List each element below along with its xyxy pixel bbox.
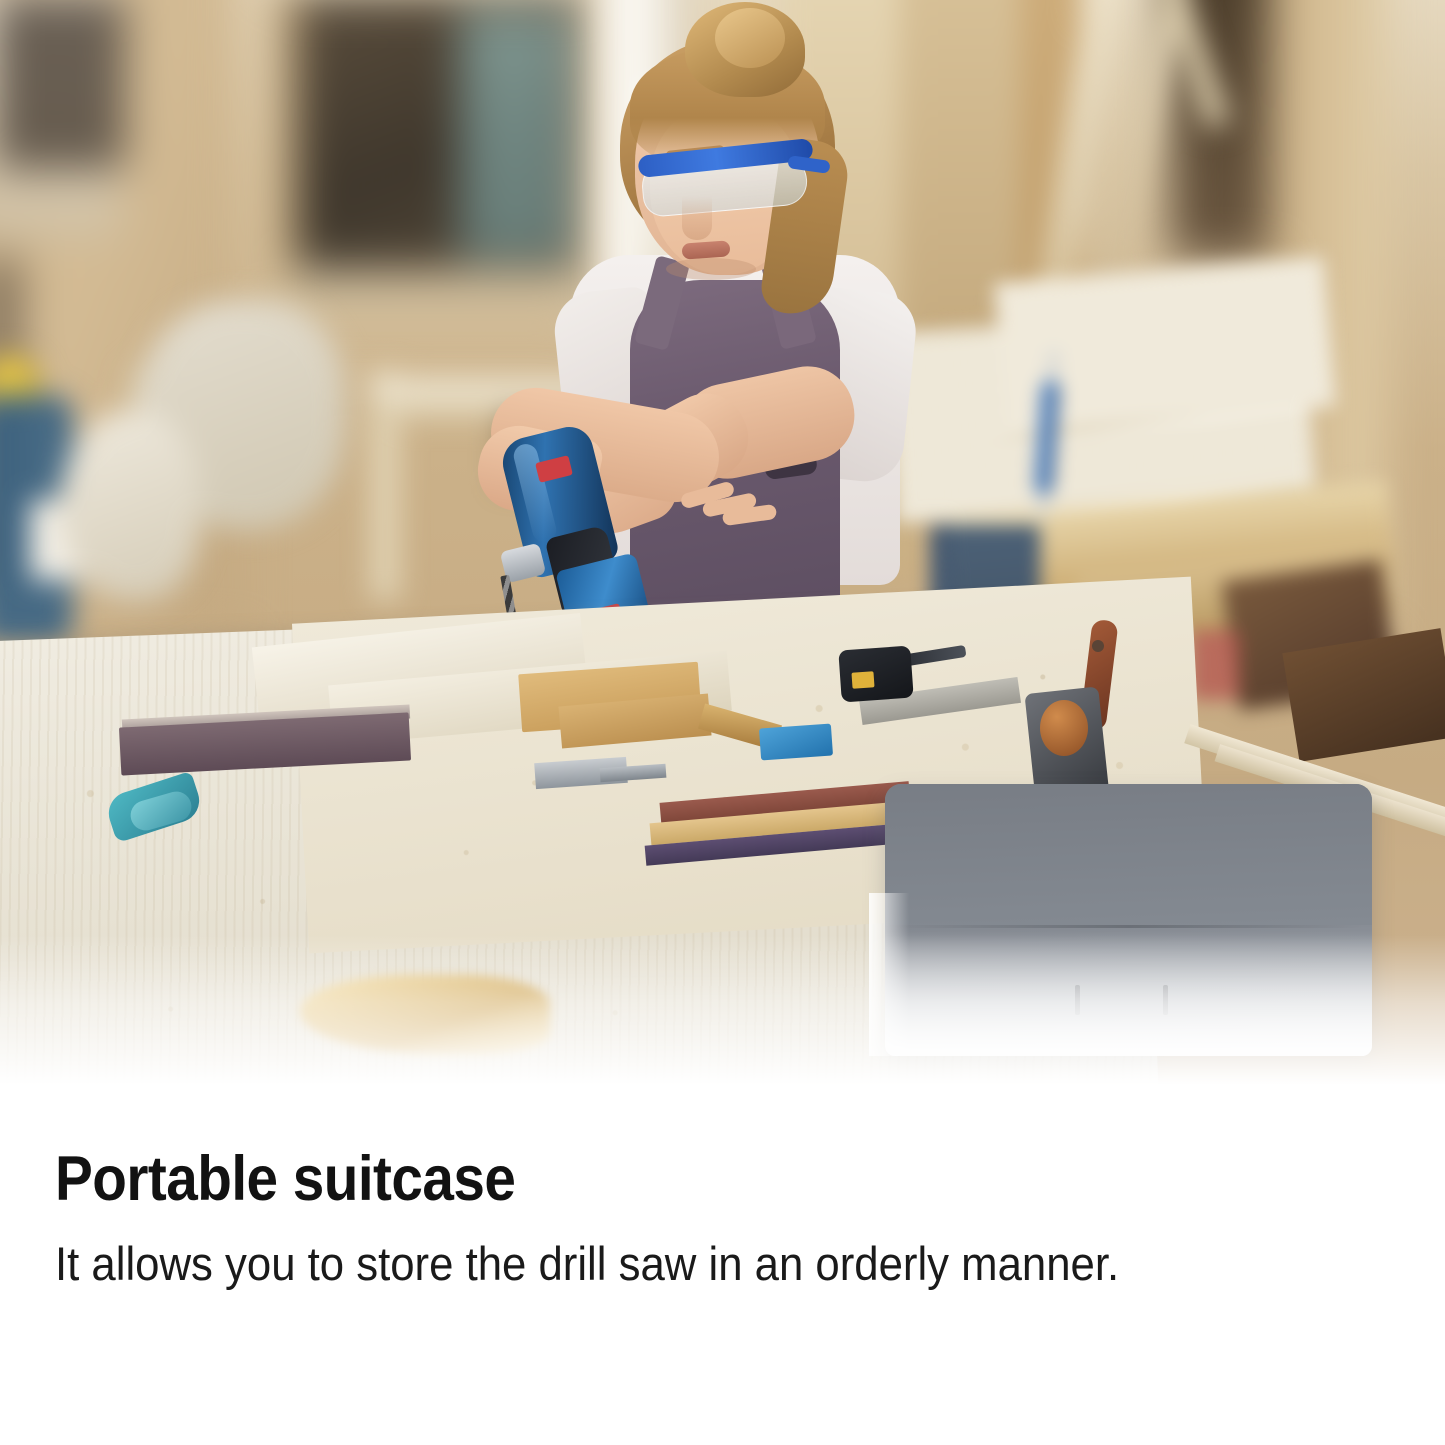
red-clamp <box>1190 630 1240 700</box>
hair-bun-highlight <box>715 8 785 68</box>
nose <box>682 196 712 240</box>
hand-plane-pin <box>1092 640 1104 652</box>
suitcase-lid <box>885 784 1372 925</box>
chin-shadow <box>666 258 756 280</box>
caption-panel: Portable suitcase It allows you to store… <box>0 1085 1445 1445</box>
lips <box>682 240 731 259</box>
dark-rail-board <box>1282 628 1445 762</box>
blue-block <box>759 724 833 761</box>
photo-bottom-fade <box>0 935 1445 1085</box>
feature-title: Portable suitcase <box>55 1147 1252 1211</box>
hand-plane-knob <box>1040 700 1088 756</box>
feature-description: It allows you to store the drill saw in … <box>55 1233 1208 1294</box>
tape-measure-icon <box>838 646 913 703</box>
suitcase-seam <box>895 925 1363 928</box>
product-lifestyle-photo <box>0 0 1445 1085</box>
tape-measure-window <box>851 671 874 688</box>
product-feature-page: Portable suitcase It allows you to store… <box>0 0 1445 1445</box>
